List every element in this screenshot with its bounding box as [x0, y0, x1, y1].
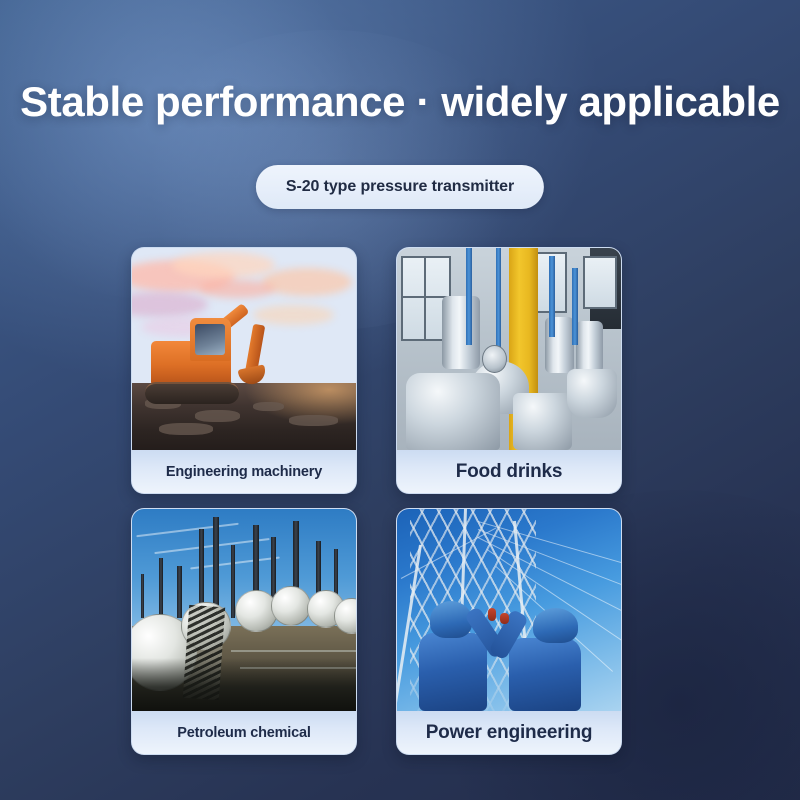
power-line-scene	[397, 509, 621, 711]
worker-torso	[419, 633, 486, 711]
rubble	[289, 415, 338, 426]
poster-canvas: Stable performance · widely applicable S…	[0, 0, 800, 800]
blue-pipe	[496, 248, 502, 353]
process-vessel	[513, 393, 571, 450]
spherical-storage-tank	[271, 586, 311, 626]
card-label-engineering-machinery: Engineering machinery	[132, 450, 356, 493]
excavator-window	[195, 324, 225, 356]
application-card-food-drinks[interactable]: Food drinks	[396, 247, 622, 494]
excavator-track	[145, 382, 239, 403]
pipe-rack	[231, 650, 356, 652]
worker-helmet	[430, 601, 472, 639]
card-image-petroleum-chemical	[132, 509, 356, 711]
excavator	[145, 313, 275, 406]
distillation-tower	[141, 574, 144, 618]
card-label-food-drinks: Food drinks	[397, 450, 621, 493]
application-card-engineering-machinery[interactable]: Engineering machinery	[131, 247, 357, 494]
excavator-scene	[132, 248, 356, 450]
factory-window	[583, 256, 617, 309]
blue-pipe	[466, 248, 472, 345]
application-card-petroleum-chemical[interactable]: Petroleum chemical	[131, 508, 357, 755]
worker-torso	[509, 638, 581, 711]
excavator-bucket	[238, 364, 268, 386]
card-label-petroleum-chemical: Petroleum chemical	[132, 711, 356, 754]
card-image-food-drinks	[397, 248, 621, 450]
blue-pipe	[549, 256, 555, 337]
pressure-gauge	[482, 345, 507, 373]
worker-left	[419, 586, 486, 711]
page-title: Stable performance · widely applicable	[0, 80, 800, 124]
card-image-power-engineering	[397, 509, 621, 711]
worker-right	[509, 594, 581, 711]
card-image-engineering-machinery	[132, 248, 356, 450]
foreground-shadow	[132, 658, 356, 711]
storage-tank	[576, 321, 603, 374]
distillation-tower	[231, 545, 235, 618]
process-vessel	[567, 369, 616, 417]
food-plant-scene	[397, 248, 621, 450]
card-label-power-engineering: Power engineering	[397, 711, 621, 754]
process-vessel	[406, 373, 500, 450]
worker-glove	[500, 613, 509, 625]
worker-glove	[488, 608, 496, 621]
rubble	[195, 410, 240, 422]
worker-helmet	[533, 608, 577, 643]
distillation-tower	[177, 566, 182, 619]
distillation-tower	[159, 558, 163, 619]
refinery-scene	[132, 509, 356, 711]
product-model-badge: S-20 type pressure transmitter	[256, 165, 544, 209]
blue-pipe	[572, 268, 578, 345]
application-card-grid: Engineering machinery	[131, 247, 622, 755]
window-mullion	[424, 256, 426, 341]
application-card-power-engineering[interactable]: Power engineering	[396, 508, 622, 755]
rubble	[159, 423, 213, 435]
storage-tank	[442, 296, 480, 369]
